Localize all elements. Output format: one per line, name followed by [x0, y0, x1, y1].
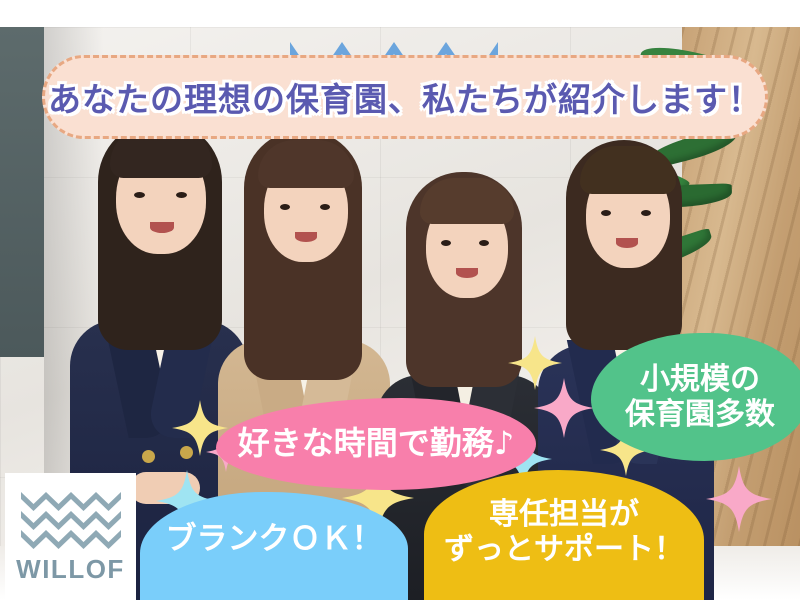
zigzag-chevron-icon	[21, 488, 121, 550]
headline-text: あなたの理想の保育園、私たちが紹介します！	[48, 73, 762, 121]
bubble-pink-text: 好きな時間で勤務♪	[238, 425, 514, 463]
wall-dark-panel	[0, 27, 44, 357]
bubble-yellow-text: 専任担当が ずっとサポート！	[444, 497, 684, 568]
willof-logo-card: WILLOF	[5, 473, 136, 600]
logo-text: WILLOF	[16, 554, 125, 585]
bubble-blank-ok: ブランクＯＫ！	[140, 492, 408, 600]
bubble-green-text: 小規模の 保育園多数	[625, 362, 775, 433]
sparkle-icon	[706, 466, 772, 532]
bubble-blue-text: ブランクＯＫ！	[166, 521, 383, 558]
bubble-green-line2: 保育園多数	[625, 397, 775, 432]
advertisement-banner: WILLOF	[0, 0, 800, 600]
top-white-strip	[0, 0, 800, 27]
bubble-green-line1: 小規模の	[640, 362, 760, 397]
bubble-yellow-line1: 専任担当が	[489, 497, 639, 532]
headline-banner: あなたの理想の保育園、私たちが紹介します！	[42, 55, 768, 139]
sparkle-icon	[534, 378, 594, 438]
bubble-small-nurseries: 小規模の 保育園多数	[591, 333, 800, 461]
bubble-yellow-line2: ずっとサポート！	[444, 532, 684, 567]
